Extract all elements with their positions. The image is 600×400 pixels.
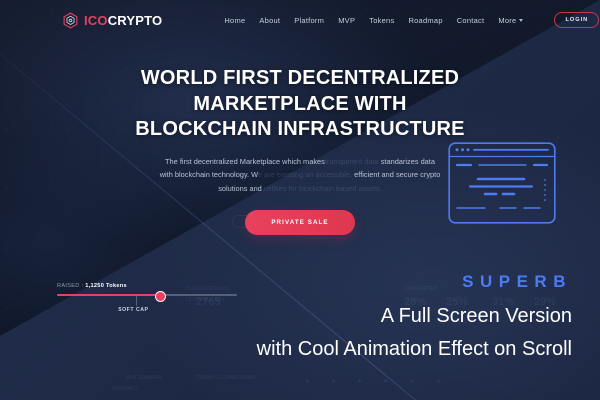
- ghost-social-icon-6: ●: [436, 378, 440, 385]
- chevron-down-icon: [519, 19, 523, 22]
- hero-cta-row: PRIVATE SALE: [0, 210, 600, 235]
- raised-progress-widget: RAISED : 1,1250 Tokens SOFT CAP: [57, 283, 237, 296]
- landing-page-screenshot: ICOCRYPTO Home About Platform MVP Tokens…: [0, 0, 600, 400]
- hero-section: WORLD FIRST DECENTRALIZED MARKETPLACE WI…: [0, 66, 600, 235]
- login-button[interactable]: LOGIN: [554, 12, 599, 28]
- hero-paragraph-line1: The first decentralized Marketplace whic…: [165, 157, 325, 166]
- ghost-social-icon-1: ●: [305, 378, 309, 385]
- hero-paragraph: The first decentralized Marketplace whic…: [159, 155, 441, 196]
- promo-headline-line2: with Cool Animation Effect on Scroll: [257, 338, 572, 361]
- nav-item-roadmap[interactable]: Roadmap: [408, 16, 442, 25]
- ghost-social-icon-4: ●: [384, 378, 388, 385]
- hero-paragraph-line2-faded: e are creating an accessible,: [258, 170, 352, 179]
- raised-line: RAISED : 1,1250 Tokens: [57, 283, 237, 289]
- ghost-social-icon-3: ●: [357, 378, 361, 385]
- ghost-social-icon-5: ●: [410, 378, 414, 385]
- hexagon-logo-icon: [62, 12, 79, 29]
- progress-slider-track[interactable]: SOFT CAP: [57, 294, 237, 296]
- brand-name: ICOCRYPTO: [84, 14, 162, 27]
- brand-name-ico: ICO: [84, 13, 108, 28]
- progress-slider-fill: [57, 294, 160, 296]
- ghost-social-icon-row: ● ● ● ● ● ●: [305, 378, 440, 385]
- nav-item-more[interactable]: More: [498, 16, 523, 25]
- progress-slider-handle[interactable]: [155, 291, 166, 302]
- promo-headline-line1: A Full Screen Version: [381, 305, 572, 328]
- promo-kicker: SUPERB: [462, 272, 572, 292]
- nav-item-tokens[interactable]: Tokens: [369, 16, 394, 25]
- hero-title: WORLD FIRST DECENTRALIZED MARKETPLACE WI…: [135, 66, 465, 143]
- ghost-social-icon-2: ●: [331, 378, 335, 385]
- hero-paragraph-line1-faded: transparent data: [325, 157, 379, 166]
- soft-cap-label: SOFT CAP: [118, 307, 148, 313]
- nav-item-about[interactable]: About: [259, 16, 280, 25]
- soft-cap-tick: [136, 296, 137, 306]
- hero-paragraph-line3-faded: utilities for blockchain based assets.: [264, 184, 382, 193]
- main-navigation: Home About Platform MVP Tokens Roadmap C…: [224, 12, 599, 28]
- private-sale-button[interactable]: PRIVATE SALE: [245, 210, 354, 235]
- raised-value: 1,1250 Tokens: [85, 283, 127, 289]
- brand-name-crypto: CRYPTO: [108, 13, 163, 28]
- nav-item-more-label: More: [498, 16, 516, 25]
- brand-logo[interactable]: ICOCRYPTO: [62, 12, 162, 29]
- nav-item-platform[interactable]: Platform: [294, 16, 324, 25]
- raised-label: RAISED :: [57, 283, 83, 289]
- nav-item-home[interactable]: Home: [224, 16, 245, 25]
- nav-item-contact[interactable]: Contact: [457, 16, 485, 25]
- site-header: ICOCRYPTO Home About Platform MVP Tokens…: [0, 0, 600, 40]
- nav-item-mvp[interactable]: MVP: [338, 16, 355, 25]
